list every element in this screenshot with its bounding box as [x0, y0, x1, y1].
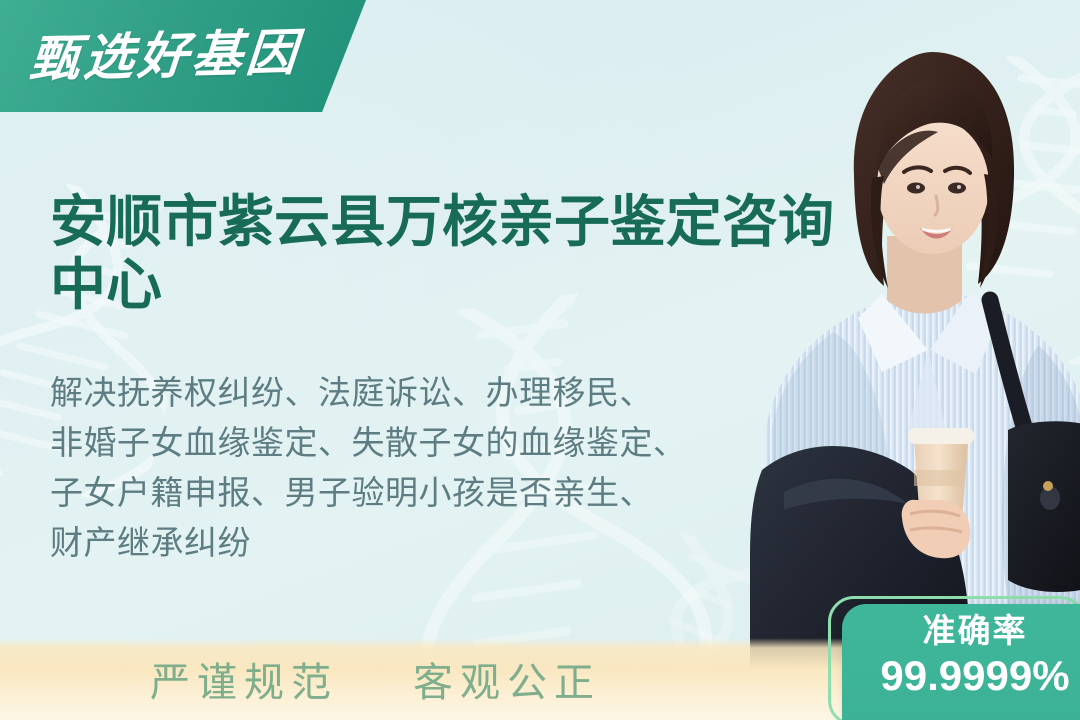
- banner-canvas: 甄选好基因 安顺市紫云县万核亲子鉴定咨询中心 解决抚养权纠纷、法庭诉讼、办理移民…: [0, 0, 1080, 720]
- tagline-left: 严谨规范: [150, 650, 338, 708]
- services-line: 解决抚养权纠纷、法庭诉讼、办理移民、: [50, 368, 770, 418]
- brand-ribbon: 甄选好基因: [0, 0, 366, 112]
- services-line: 财产继承纠纷: [50, 518, 770, 568]
- accuracy-badge: 准确率 99.9999%: [828, 596, 1080, 720]
- tagline-right: 客观公正: [413, 650, 601, 708]
- accuracy-badge-panel: 准确率 99.9999%: [842, 604, 1080, 720]
- accuracy-value: 99.9999%: [880, 653, 1069, 699]
- page-title: 安顺市紫云县万核亲子鉴定咨询中心: [50, 190, 850, 318]
- brand-ribbon-text: 甄选好基因: [28, 27, 303, 84]
- services-line: 非婚子女血缘鉴定、失散子女的血缘鉴定、: [50, 418, 770, 468]
- services-line: 子女户籍申报、男子验明小孩是否亲生、: [50, 468, 770, 518]
- services-description: 解决抚养权纠纷、法庭诉讼、办理移民、 非婚子女血缘鉴定、失散子女的血缘鉴定、 子…: [50, 368, 770, 569]
- accuracy-label: 准确率: [923, 612, 1028, 651]
